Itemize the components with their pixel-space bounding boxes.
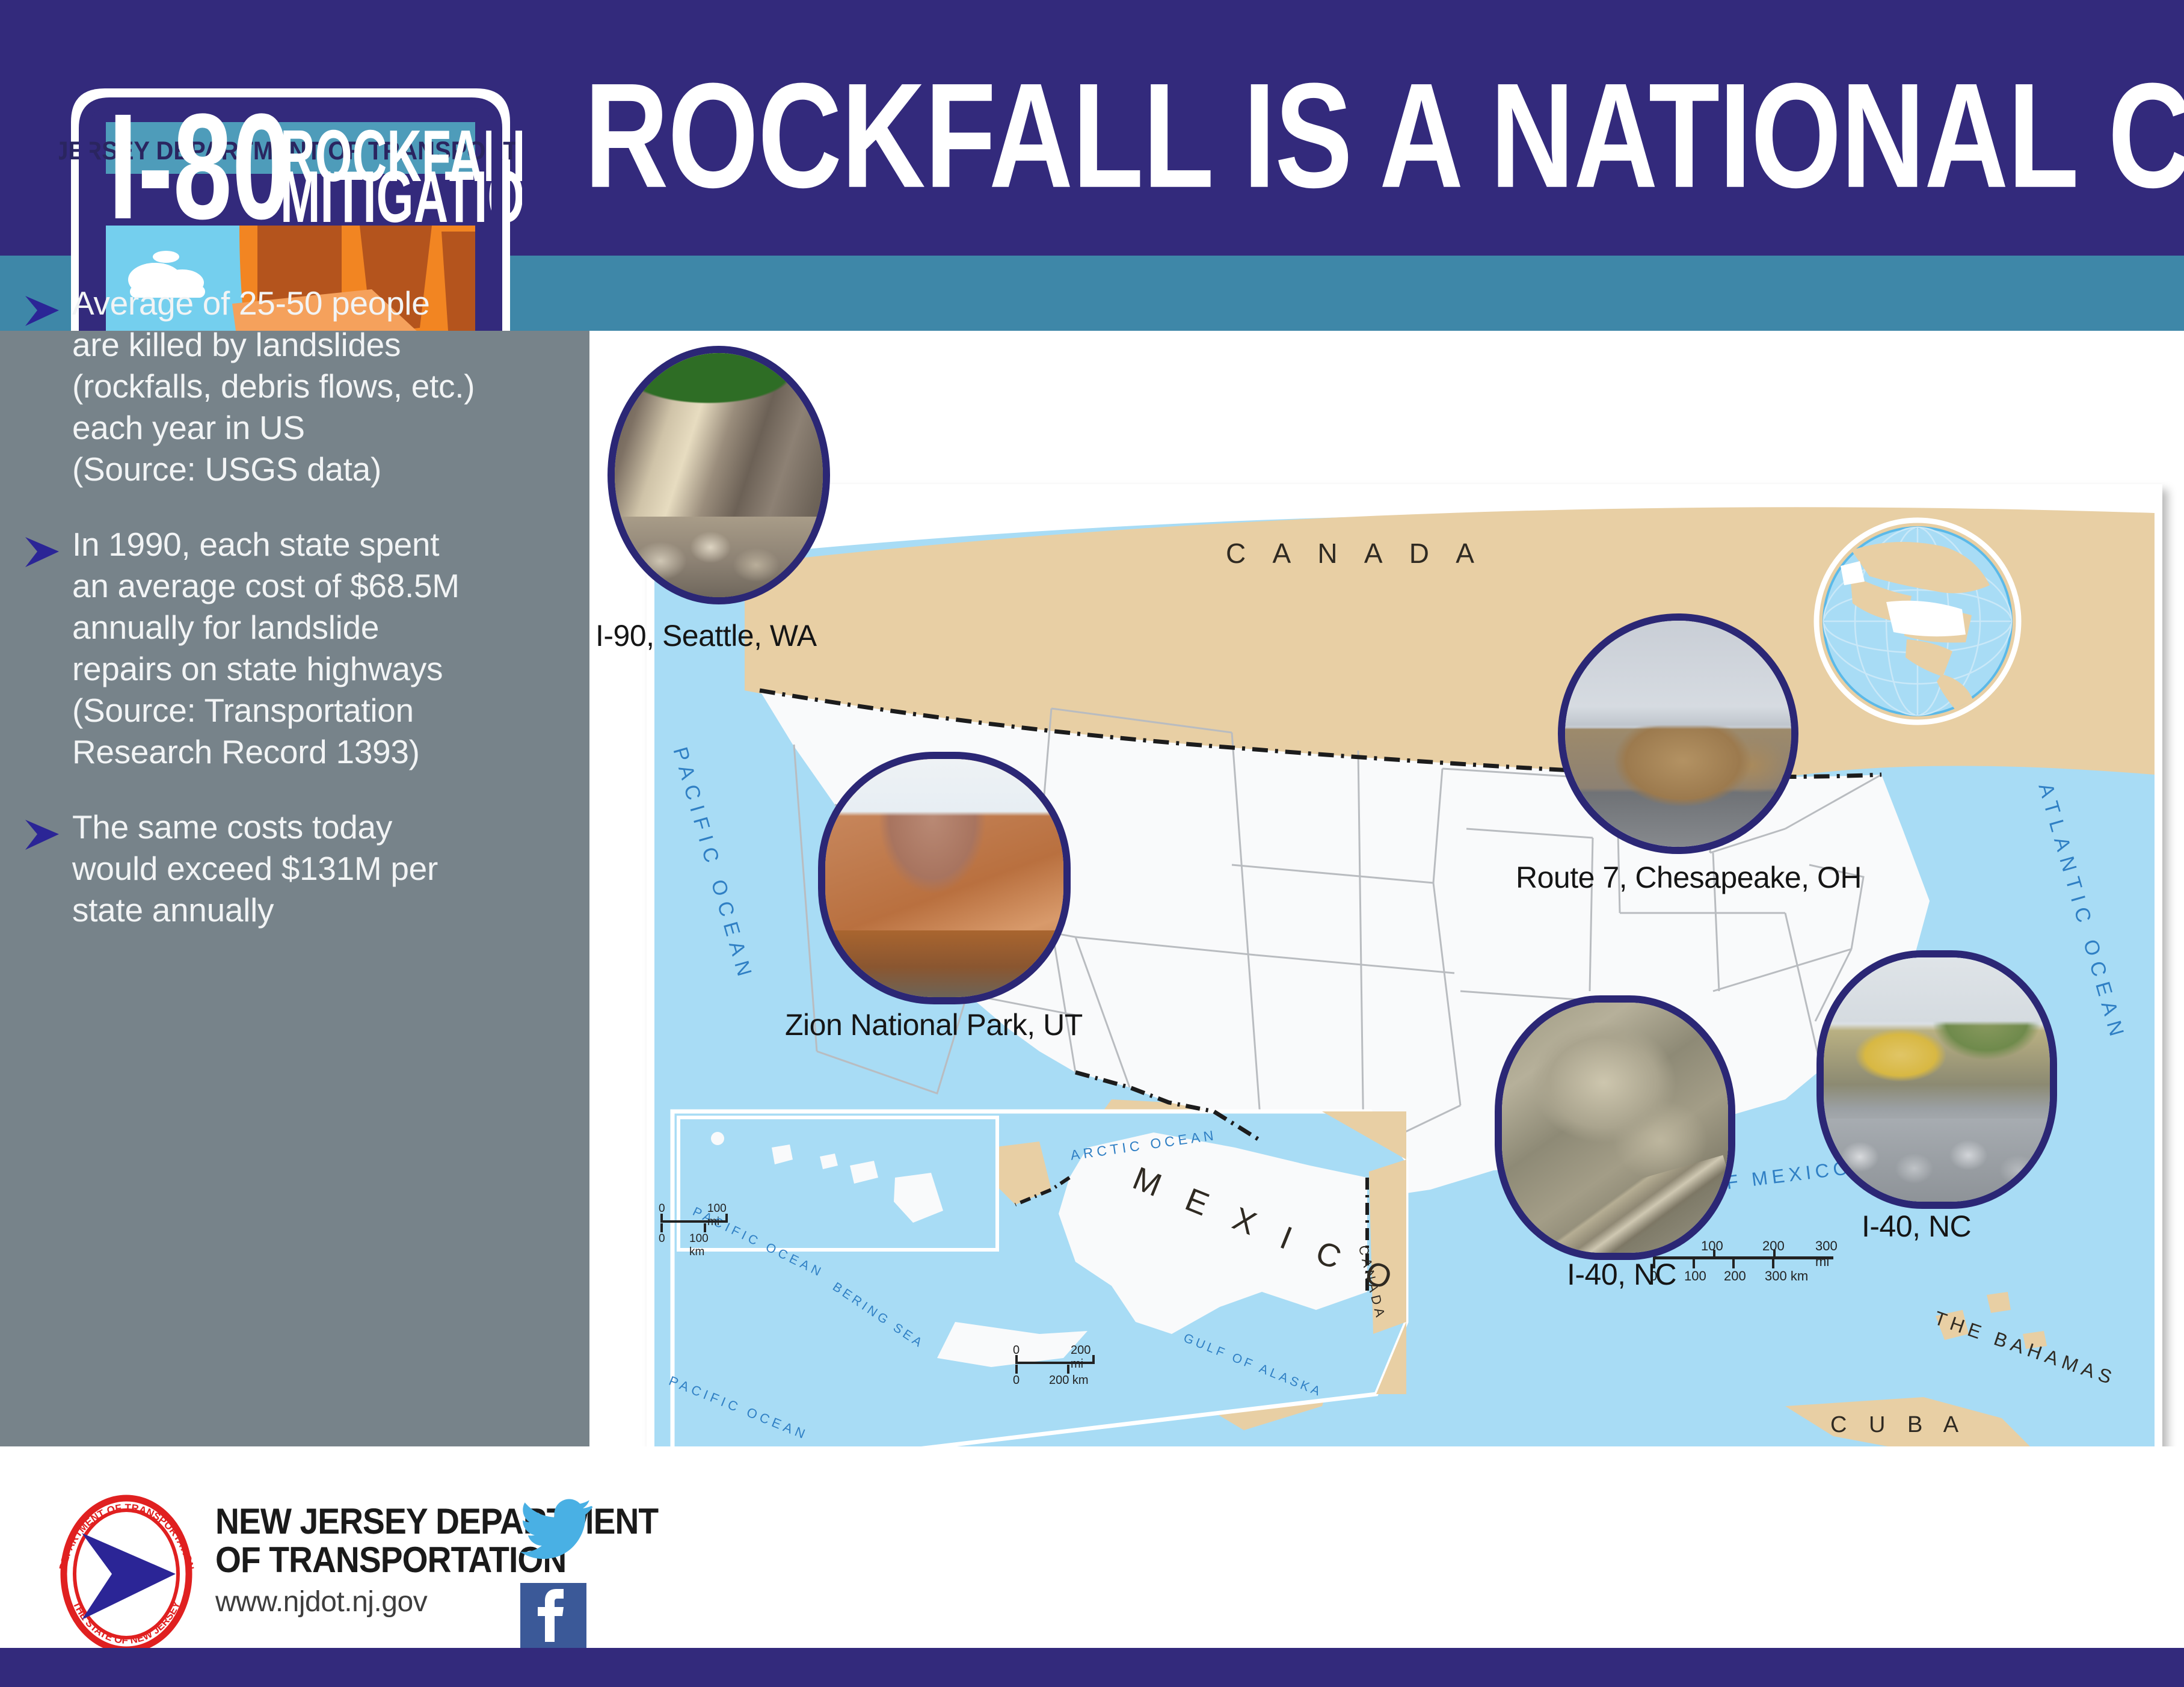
chevron-right-icon [24,536,64,570]
photo-caption-i40-nc-rockslide: I-40, NC [1567,1257,1676,1292]
scale-tick: 200 mi [1071,1344,1094,1371]
photo-caption-chesapeake-oh: Route 7, Chesapeake, OH [1516,860,1862,895]
list-item-label: In 1990, each state spent an average cos… [72,524,460,773]
chevron-right-icon [24,295,64,328]
org-name-line2: OF TRANSPORTATION [215,1541,547,1579]
scale-tick: 100 [1684,1268,1706,1284]
photo-bubble-i40-nc-excavator [1816,950,2057,1209]
rockslide-over-interstate-photo [1502,1003,1728,1253]
globe-inset [1816,520,2019,722]
scale-tick: 0 [1013,1344,1020,1357]
scale-tick: 300 mi [1815,1238,1838,1270]
scale-tick: 0 [659,1232,665,1246]
photo-caption-seattle: I-90, Seattle, WA [595,618,817,653]
boulders-on-road-photo [1565,621,1791,847]
njdot-seal-logo: DEPARTMENT OF TRANSPORTATION THE STATE O… [47,1495,206,1654]
scale-tick: 300 km [1765,1268,1808,1284]
excavator-clearing-rock-photo [1824,957,2050,1202]
photo-bubble-zion [818,752,1071,1004]
scale-tick: 200 km [1049,1374,1089,1387]
red-rock-cliff-photo [825,759,1063,997]
photo-caption-zion: Zion National Park, UT [785,1007,1083,1042]
scale-tick: 200 [1762,1238,1785,1254]
rockfall-debris-photo [615,353,823,597]
scale-tick: 0 [1013,1374,1020,1387]
list-item: In 1990, each state spent an average cos… [24,524,577,773]
list-item: Average of 25-50 people are killed by la… [24,283,577,490]
facebook-icon[interactable] [520,1583,586,1649]
page-title: ROCKFALL IS A NATIONAL CONCERN [585,44,2171,227]
facts-bullet-list: Average of 25-50 people are killed by la… [24,283,577,965]
photo-caption-i40-nc-excavator: I-40, NC [1862,1209,1971,1244]
scale-tick: 100 km [689,1232,727,1259]
list-item-label: Average of 25-50 people are killed by la… [72,283,475,490]
chevron-right-icon [24,819,64,852]
photo-bubble-seattle [608,346,830,604]
list-item: The same costs today would exceed $131M … [24,807,577,931]
badge-program-line2: MITIGATION [280,156,522,238]
twitter-icon[interactable] [520,1498,592,1564]
photo-bubble-i40-nc-rockslide [1495,995,1735,1260]
scale-tick: 100 mi [707,1202,727,1229]
photo-bubble-chesapeake-oh [1558,613,1798,854]
org-name-line1: NEW JERSEY DEPARTMENT [215,1502,547,1541]
list-item-label: The same costs today would exceed $131M … [72,807,438,931]
seal-inner-text: THE STATE OF NEW JERSEY [70,1599,182,1646]
footer-accent-bar [0,1648,2184,1687]
scale-tick: 0 [659,1202,665,1215]
scale-tick: 200 [1724,1268,1746,1284]
